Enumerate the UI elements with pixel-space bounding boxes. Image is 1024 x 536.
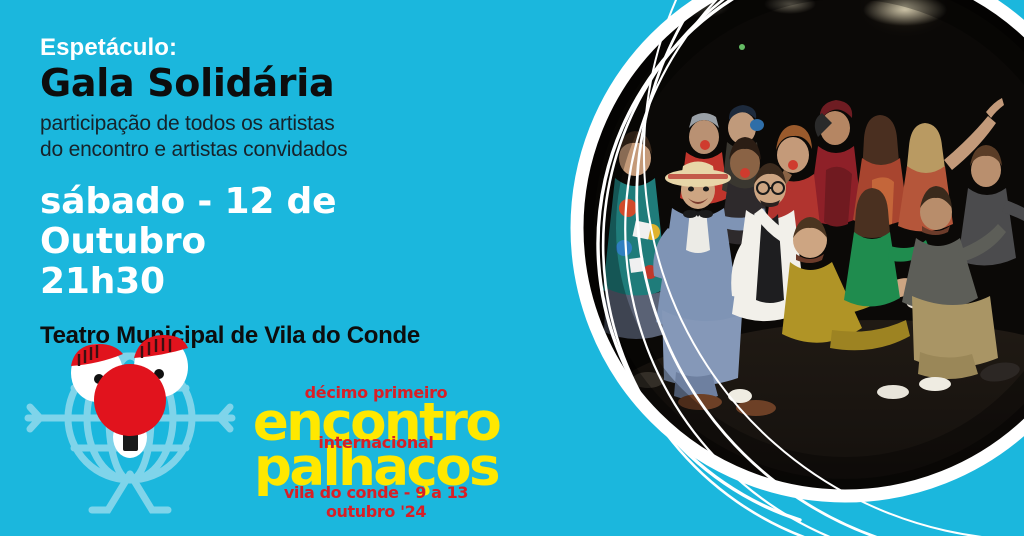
mascot-nose (94, 364, 166, 436)
event-subtitle-line1: participação de todos os artistas (40, 111, 510, 137)
event-kicker: Espetáculo: (40, 34, 510, 62)
mascot-legs (92, 474, 168, 510)
logo-edition: décimo primeiro (248, 383, 504, 402)
festival-logo: décimo primeiro encontro internacional p… (248, 383, 504, 515)
event-subtitle-line2: do encontro e artistas convidados (40, 137, 510, 163)
decorative-arcs (598, 0, 1024, 536)
event-time: 21h30 (40, 262, 510, 302)
event-text-block: Espetáculo: Gala Solidária participação … (40, 34, 510, 351)
stage-photo (550, 0, 1024, 536)
globe-clown-mascot (24, 322, 236, 520)
medallion-ring (577, 0, 1024, 496)
logo-footer: vila do conde - 9 a 13 outubro '24 (248, 483, 504, 521)
event-date: sábado - 12 de Outubro (40, 182, 510, 263)
event-title: Gala Solidária (40, 63, 510, 105)
poster: Espetáculo: Gala Solidária participação … (0, 0, 1024, 536)
logo-qualifier: internacional (248, 433, 504, 452)
